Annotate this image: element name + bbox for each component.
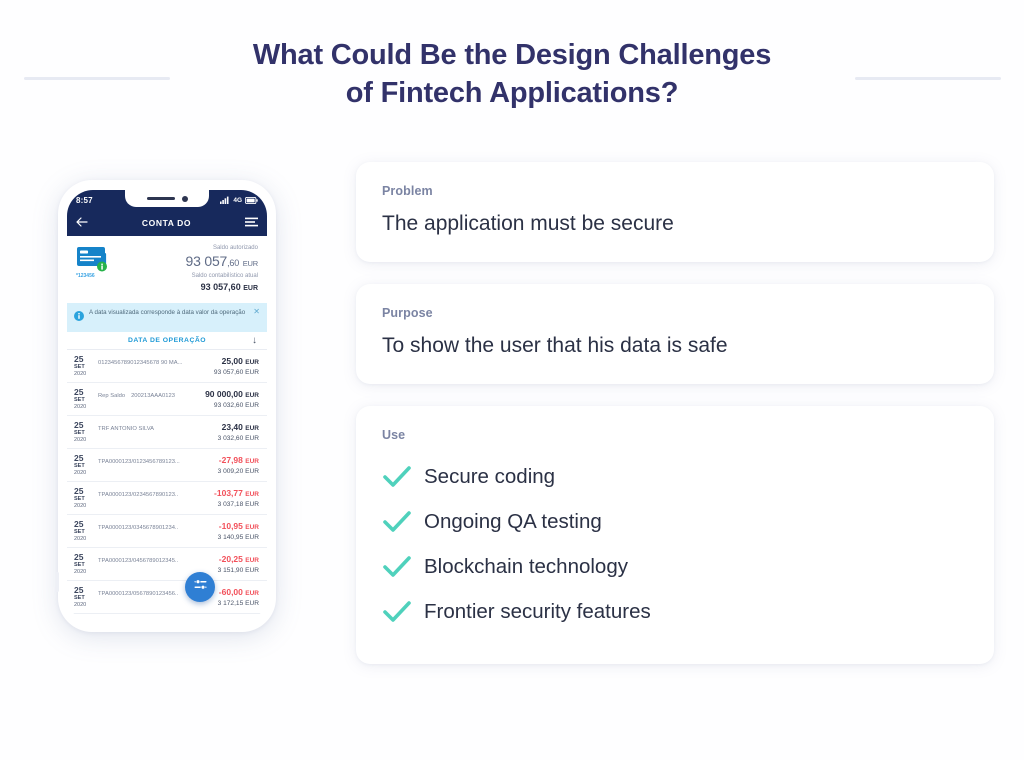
transaction-amounts: -27,98 EUR 3 009,20 EUR xyxy=(218,455,259,476)
transaction-amounts: -20,25 EUR 3 151,90 EUR xyxy=(218,554,259,575)
transaction-amount: -103,77 EUR xyxy=(214,488,259,500)
check-icon xyxy=(382,554,424,580)
transaction-running-balance: 3 151,90 EUR xyxy=(218,566,259,575)
list-item: Ongoing QA testing xyxy=(382,499,968,544)
status-bar: 8:57 4G xyxy=(67,190,267,210)
transaction-day: 25 xyxy=(74,354,94,364)
transaction-description: TPA0000123/0456789012345.. xyxy=(98,557,178,580)
transaction-running-balance: 3 009,20 EUR xyxy=(218,467,259,476)
transaction-amount-value: -10,95 xyxy=(219,521,243,531)
info-banner-text: A data visualizada corresponde à data va… xyxy=(89,308,248,317)
transaction-amount-value: -20,25 xyxy=(219,554,243,564)
transaction-amounts: 23,40 EUR 3 032,60 EUR xyxy=(218,422,259,443)
speaker-grill xyxy=(147,197,175,200)
transaction-amount-value: 90 000,00 xyxy=(205,389,243,399)
transaction-year: 2020 xyxy=(74,371,94,378)
use-item-label: Blockchain technology xyxy=(424,554,628,580)
table-row[interactable]: 25 SET 2020 TPA0000123/0123456789123... … xyxy=(67,449,267,482)
use-list: Secure coding Ongoing QA testing Blockch… xyxy=(382,454,968,634)
page-title: What Could Be the Design Challenges of F… xyxy=(0,36,1024,112)
transaction-year: 2020 xyxy=(74,569,94,576)
transaction-amount: 23,40 EUR xyxy=(218,422,259,434)
transaction-month: SET xyxy=(74,364,94,371)
transaction-running-balance: 3 037,18 EUR xyxy=(214,500,259,509)
check-icon xyxy=(382,509,424,535)
transaction-detail: TPA0000123/0345678901234.. xyxy=(94,515,218,547)
transaction-year: 2020 xyxy=(74,602,94,609)
battery-icon xyxy=(245,191,258,209)
card-problem-text: The application must be secure xyxy=(382,210,968,238)
transaction-amounts: 90 000,00 EUR 93 032,60 EUR xyxy=(205,389,259,410)
card-purpose: Purpose To show the user that his data i… xyxy=(356,284,994,384)
slide-root: What Could Be the Design Challenges of F… xyxy=(0,0,1024,760)
arrow-down-icon[interactable]: ↓ xyxy=(252,336,257,346)
filter-sliders-icon xyxy=(193,577,208,597)
transaction-description: TPA0000123/0234567890123.. xyxy=(98,491,178,514)
masked-card-number: *123456 xyxy=(76,273,95,279)
authorized-balance-currency: EUR xyxy=(243,259,258,268)
transaction-detail: TRF ANTONIO SILVA xyxy=(94,416,218,448)
transaction-amount-currency: EUR xyxy=(245,359,259,366)
card-purpose-text: To show the user that his data is safe xyxy=(382,332,968,360)
transaction-amount: 25,00 EUR xyxy=(214,356,259,368)
transaction-amount-currency: EUR xyxy=(245,392,259,399)
transaction-date: 25 SET 2020 xyxy=(74,585,94,609)
transaction-year: 2020 xyxy=(74,536,94,543)
signal-bars-icon xyxy=(220,191,230,209)
transaction-amount: -10,95 EUR xyxy=(218,521,259,533)
transaction-month: SET xyxy=(74,463,94,470)
transaction-amount: -20,25 EUR xyxy=(218,554,259,566)
transaction-month: SET xyxy=(74,496,94,503)
bank-card-icon: *123456 xyxy=(76,244,118,278)
table-row[interactable]: 25 SET 2020 TPA0000123/0234567890123.. -… xyxy=(67,482,267,515)
transaction-amounts: -103,77 EUR 3 037,18 EUR xyxy=(214,488,259,509)
use-item-label: Frontier security features xyxy=(424,599,651,625)
transaction-amount: -60,00 EUR xyxy=(218,587,259,599)
network-type-label: 4G xyxy=(233,197,242,204)
list-item: Frontier security features xyxy=(382,589,968,634)
account-balance-block: *123456 Saldo autorizado 93 057,60 EUR S… xyxy=(67,236,267,303)
transaction-amount-value: -60,00 xyxy=(219,587,243,597)
phone-screen: 8:57 4G xyxy=(67,190,267,622)
transaction-running-balance: 3 032,60 EUR xyxy=(218,434,259,443)
transaction-month: SET xyxy=(74,397,94,404)
front-camera-icon xyxy=(182,196,188,202)
status-time: 8:57 xyxy=(76,196,93,205)
table-row[interactable]: 25 SET 2020 TRF ANTONIO SILVA 23,40 EUR … xyxy=(67,416,267,449)
transaction-date: 25 SET 2020 xyxy=(74,420,94,444)
transaction-detail: TPA0000123/0123456789123... xyxy=(94,449,218,481)
transaction-amount-value: 25,00 xyxy=(222,356,243,366)
transaction-amount-currency: EUR xyxy=(245,425,259,432)
accounting-balance-value: 93 057,60 EUR xyxy=(118,281,258,295)
authorized-balance-int: 93 057 xyxy=(186,253,228,269)
card-problem-label: Problem xyxy=(382,184,968,198)
transaction-amount-currency: EUR xyxy=(245,557,259,564)
balance-values: Saldo autorizado 93 057,60 EUR Saldo con… xyxy=(118,244,258,295)
table-row[interactable]: 25 SET 2020 Rep Saldo 200213AAA0123 90 0… xyxy=(67,383,267,416)
transaction-running-balance: 93 032,60 EUR xyxy=(205,401,259,410)
phone-notch xyxy=(125,190,209,207)
transaction-running-balance: 93 057,60 EUR xyxy=(214,368,259,377)
transactions-table-header: DATA DE OPERAÇÃO ↓ xyxy=(67,332,267,350)
transaction-date: 25 SET 2020 xyxy=(74,453,94,477)
transaction-date: 25 SET 2020 xyxy=(74,519,94,543)
transaction-day: 25 xyxy=(74,453,94,463)
transaction-amount-currency: EUR xyxy=(245,524,259,531)
filter-fab-button[interactable] xyxy=(185,572,215,602)
transaction-running-balance: 3 172,15 EUR xyxy=(218,599,259,608)
transaction-amount: 90 000,00 EUR xyxy=(205,389,259,401)
transaction-detail: TPA0000123/0234567890123.. xyxy=(94,482,214,514)
transaction-amount-currency: EUR xyxy=(245,590,259,597)
transaction-day: 25 xyxy=(74,552,94,562)
phone-mockup: 8:57 4G xyxy=(58,180,276,632)
card-use-label: Use xyxy=(382,428,968,442)
transaction-amount-value: 23,40 xyxy=(222,422,243,432)
use-item-label: Ongoing QA testing xyxy=(424,509,602,535)
transaction-amount-currency: EUR xyxy=(245,491,259,498)
accounting-balance-currency: EUR xyxy=(243,285,258,292)
transaction-detail: Rep Saldo 200213AAA0123 xyxy=(94,383,205,415)
transaction-month: SET xyxy=(74,562,94,569)
transaction-running-balance: 3 140,95 EUR xyxy=(218,533,259,542)
authorized-balance-cents: ,60 xyxy=(227,258,239,268)
transaction-year: 2020 xyxy=(74,470,94,477)
transaction-date: 25 SET 2020 xyxy=(74,354,94,378)
transaction-detail: 0123456789012345678 90 MA... xyxy=(94,350,214,382)
status-indicators: 4G xyxy=(220,191,258,209)
use-item-label: Secure coding xyxy=(424,464,555,490)
transaction-amount: -27,98 EUR xyxy=(218,455,259,467)
card-use: Use Secure coding Ongoing QA testing xyxy=(356,406,994,664)
transaction-day: 25 xyxy=(74,519,94,529)
info-banner: A data visualizada corresponde à data va… xyxy=(67,303,267,332)
authorized-balance-value: 93 057,60 EUR xyxy=(118,253,258,272)
accounting-balance-amount: 93 057,60 xyxy=(201,282,241,292)
transaction-description: TRF ANTONIO SILVA xyxy=(98,425,154,448)
transaction-date: 25 SET 2020 xyxy=(74,486,94,510)
check-icon xyxy=(382,599,424,625)
back-arrow-icon[interactable] xyxy=(76,214,88,232)
transaction-month: SET xyxy=(74,529,94,536)
app-navbar-title: CONTA DO xyxy=(142,218,191,228)
list-item: Secure coding xyxy=(382,454,968,499)
page-title-block: What Could Be the Design Challenges of F… xyxy=(0,36,1024,112)
content-cards: Problem The application must be secure P… xyxy=(356,162,994,686)
authorized-balance-label: Saldo autorizado xyxy=(118,244,258,253)
transaction-year: 2020 xyxy=(74,404,94,411)
transactions-sort-label[interactable]: DATA DE OPERAÇÃO xyxy=(128,337,206,344)
transaction-year: 2020 xyxy=(74,503,94,510)
transaction-description: TPA0000123/0123456789123... xyxy=(98,458,180,481)
table-row[interactable]: 25 SET 2020 TPA0000123/0567890123456.. -… xyxy=(67,581,267,614)
transaction-month: SET xyxy=(74,595,94,602)
list-item: Blockchain technology xyxy=(382,544,968,589)
app-navbar: CONTA DO xyxy=(67,210,267,236)
check-icon xyxy=(382,464,424,490)
card-purpose-label: Purpose xyxy=(382,306,968,320)
transaction-amount-value: -27,98 xyxy=(219,455,243,465)
transaction-amounts: 25,00 EUR 93 057,60 EUR xyxy=(214,356,259,377)
transaction-amounts: -60,00 EUR 3 172,15 EUR xyxy=(218,587,259,608)
transaction-date: 25 SET 2020 xyxy=(74,387,94,411)
transaction-amounts: -10,95 EUR 3 140,95 EUR xyxy=(218,521,259,542)
hamburger-menu-icon[interactable] xyxy=(245,214,258,232)
table-row[interactable]: 25 SET 2020 TPA0000123/0456789012345.. -… xyxy=(67,548,267,581)
transaction-day: 25 xyxy=(74,387,94,397)
transaction-description: TPA0000123/0567890123456.. xyxy=(98,590,178,613)
transaction-date: 25 SET 2020 xyxy=(74,552,94,576)
transaction-month: SET xyxy=(74,430,94,437)
accounting-balance-label: Saldo contabilístico atual xyxy=(118,272,258,281)
transaction-description: Rep Saldo xyxy=(98,392,125,415)
transaction-day: 25 xyxy=(74,486,94,496)
transaction-description: 0123456789012345678 90 MA... xyxy=(98,359,182,382)
page-title-line2: of Fintech Applications? xyxy=(346,77,678,109)
card-problem: Problem The application must be secure xyxy=(356,162,994,262)
phone-volume-button[interactable] xyxy=(56,572,59,592)
close-icon[interactable]: ✕ xyxy=(253,308,260,316)
transaction-amount-value: -103,77 xyxy=(214,488,243,498)
transaction-description: TPA0000123/0345678901234.. xyxy=(98,524,178,547)
table-row[interactable]: 25 SET 2020 TPA0000123/0345678901234.. -… xyxy=(67,515,267,548)
table-row[interactable]: 25 SET 2020 0123456789012345678 90 MA...… xyxy=(67,350,267,383)
transaction-reference: 200213AAA0123 xyxy=(131,392,175,415)
info-circle-icon xyxy=(74,308,84,326)
transaction-day: 25 xyxy=(74,420,94,430)
transaction-amount-currency: EUR xyxy=(245,458,259,465)
transaction-day: 25 xyxy=(74,585,94,595)
transaction-year: 2020 xyxy=(74,437,94,444)
page-title-line1: What Could Be the Design Challenges xyxy=(253,39,771,71)
